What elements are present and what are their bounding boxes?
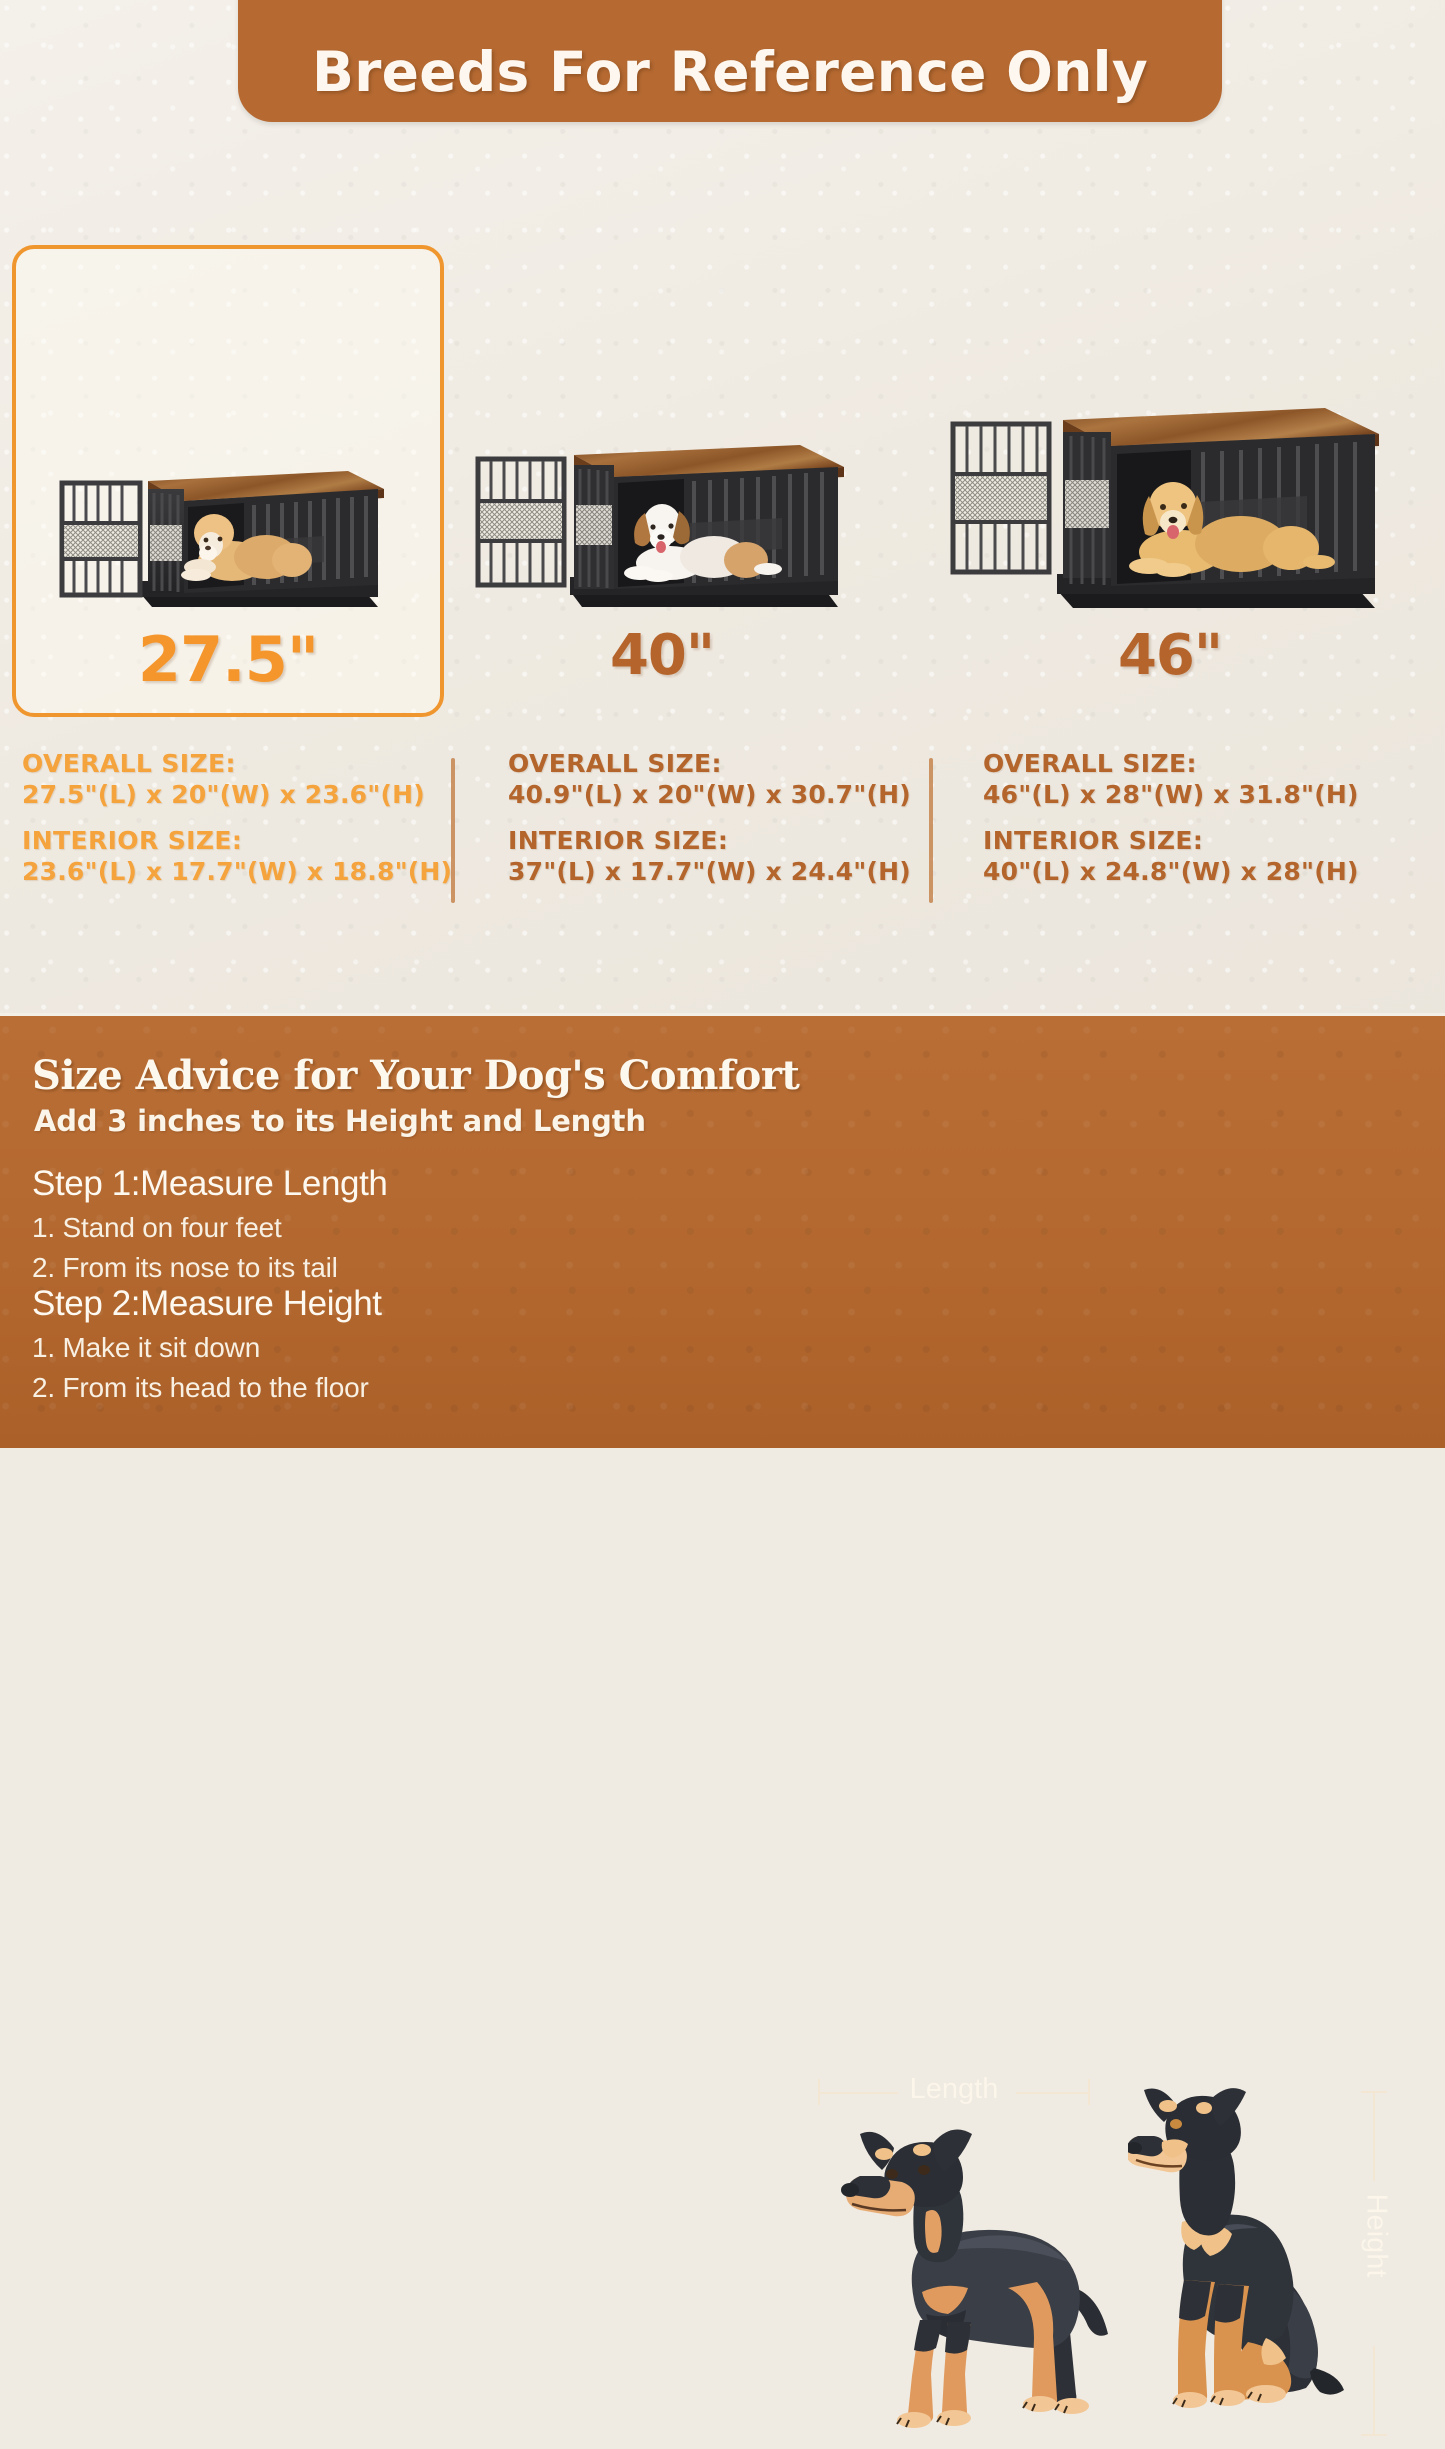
dog-crate-medium-illustration xyxy=(462,377,862,637)
product-card-3[interactable]: 46" xyxy=(910,245,1430,717)
interior-size-1: INTERIOR SIZE: 23.6"(L) x 17.7"(W) x 18.… xyxy=(22,825,442,888)
length-bar-right xyxy=(1016,2092,1088,2094)
interior-size-heading-3: INTERIOR SIZE: xyxy=(983,825,1423,856)
size-advice-panel: Size Advice for Your Dog's Comfort Add 3… xyxy=(0,1013,1445,1448)
size-label-1: 27.5" xyxy=(12,623,444,696)
step-2-line-2: 2. From its head to the floor xyxy=(32,1368,382,1408)
product-card-1[interactable]: 27.5" xyxy=(12,245,444,717)
height-label: Height xyxy=(1360,2161,1393,2311)
dog-crate-small-illustration xyxy=(48,385,408,635)
product-card-2[interactable]: 40" xyxy=(452,245,872,717)
open-door-2 xyxy=(478,459,564,585)
crate-image-3 xyxy=(910,290,1430,640)
length-cap-right xyxy=(1088,2079,1090,2105)
interior-size-value-3: 40"(L) x 24.8"(W) x 28"(H) xyxy=(983,856,1423,888)
step-1-line-1: 1. Stand on four feet xyxy=(32,1208,387,1248)
overall-size-1: OVERALL SIZE: 27.5"(L) x 20"(W) x 23.6"(… xyxy=(22,748,442,811)
open-door-3 xyxy=(953,424,1049,572)
interior-size-3: INTERIOR SIZE: 40"(L) x 24.8"(W) x 28"(H… xyxy=(983,825,1423,888)
open-door-1 xyxy=(62,483,140,595)
step-2-block: Step 2:Measure Height 1. Make it sit dow… xyxy=(32,1284,382,1408)
sitting-dog-illustration xyxy=(1128,2084,1358,2449)
advice-subtitle: Add 3 inches to its Height and Length xyxy=(34,1104,646,1138)
size-label-2: 40" xyxy=(452,623,872,688)
interior-size-value-2: 37"(L) x 17.7"(W) x 24.4"(H) xyxy=(508,856,928,888)
overall-size-heading-3: OVERALL SIZE: xyxy=(983,748,1423,779)
step-1-line-2: 2. From its nose to its tail xyxy=(32,1248,387,1288)
product-row: 27.5" xyxy=(0,245,1445,715)
size-label-3: 46" xyxy=(910,623,1430,688)
length-label: Length xyxy=(818,2073,1090,2106)
specifications-row: OVERALL SIZE: 27.5"(L) x 20"(W) x 23.6"(… xyxy=(0,748,1445,908)
spec-block-2: OVERALL SIZE: 40.9"(L) x 20"(W) x 30.7"(… xyxy=(508,748,928,902)
interior-size-heading-1: INTERIOR SIZE: xyxy=(22,825,442,856)
interior-size-2: INTERIOR SIZE: 37"(L) x 17.7"(W) x 24.4"… xyxy=(508,825,928,888)
overall-size-value-3: 46"(L) x 28"(W) x 31.8"(H) xyxy=(983,779,1423,811)
overall-size-value-2: 40.9"(L) x 20"(W) x 30.7"(H) xyxy=(508,779,928,811)
height-bar-bottom xyxy=(1373,2346,1375,2434)
height-measure-rule: Height xyxy=(1357,2091,1391,2436)
banner-title: Breeds For Reference Only xyxy=(312,40,1148,104)
dog-crate-large-illustration xyxy=(935,340,1405,640)
step-2-title: Step 2:Measure Height xyxy=(32,1284,382,1324)
standing-dog-illustration xyxy=(822,2104,1122,2449)
spec-divider-2 xyxy=(929,758,933,903)
overall-size-heading-2: OVERALL SIZE: xyxy=(508,748,928,779)
overall-size-2: OVERALL SIZE: 40.9"(L) x 20"(W) x 30.7"(… xyxy=(508,748,928,811)
crate-image-1 xyxy=(12,305,444,635)
step-1-title: Step 1:Measure Length xyxy=(32,1164,387,1204)
spec-block-1: OVERALL SIZE: 27.5"(L) x 20"(W) x 23.6"(… xyxy=(22,748,442,902)
interior-size-heading-2: INTERIOR SIZE: xyxy=(508,825,928,856)
overall-size-3: OVERALL SIZE: 46"(L) x 28"(W) x 31.8"(H) xyxy=(983,748,1423,811)
overall-size-value-1: 27.5"(L) x 20"(W) x 23.6"(H) xyxy=(22,779,442,811)
infographic-page: Breeds For Reference Only xyxy=(0,0,1445,1445)
header-banner: Breeds For Reference Only xyxy=(238,0,1222,122)
interior-size-value-1: 23.6"(L) x 17.7"(W) x 18.8"(H) xyxy=(22,856,442,888)
advice-title: Size Advice for Your Dog's Comfort xyxy=(32,1052,799,1099)
spec-block-3: OVERALL SIZE: 46"(L) x 28"(W) x 31.8"(H)… xyxy=(983,748,1423,902)
step-2-line-1: 1. Make it sit down xyxy=(32,1328,382,1368)
height-cap-bottom xyxy=(1361,2434,1387,2436)
step-1-block: Step 1:Measure Length 1. Stand on four f… xyxy=(32,1164,387,1288)
crate-image-2 xyxy=(452,307,872,637)
overall-size-heading-1: OVERALL SIZE: xyxy=(22,748,442,779)
